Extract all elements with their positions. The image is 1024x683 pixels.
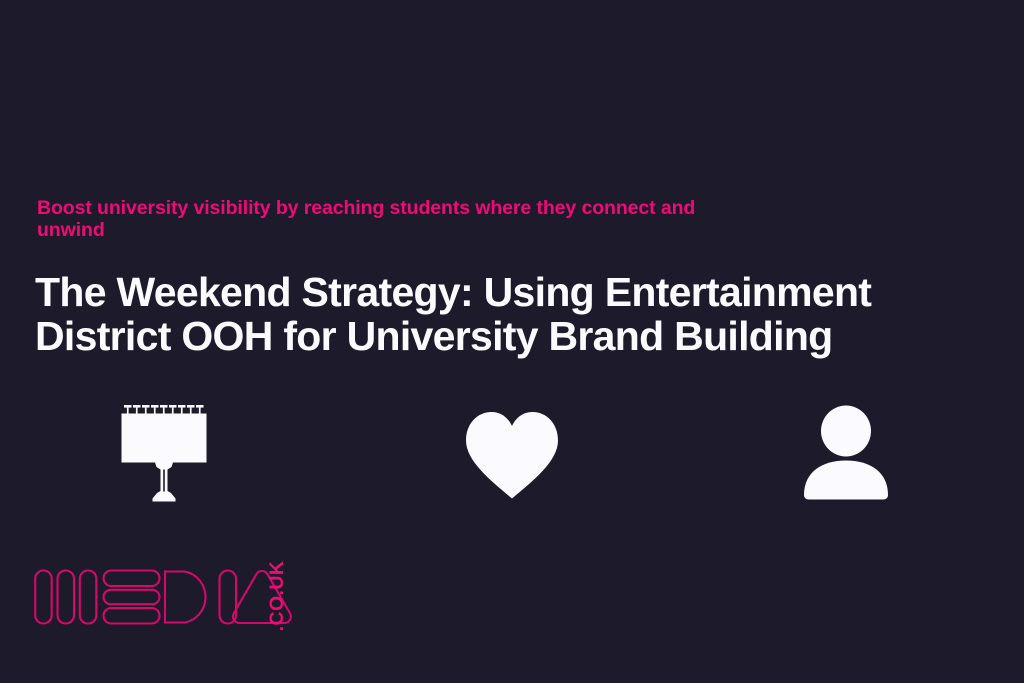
billboard-icon: Billboard <box>121 405 207 505</box>
person-icon: Person <box>802 405 890 505</box>
svg-text:.CO.UK: .CO.UK <box>266 561 288 632</box>
logo[interactable]: MEDIA.CO.UK .CO.UK <box>33 558 295 634</box>
hero-card: Boost university visibility by reaching … <box>0 0 1024 683</box>
page-title: The Weekend Strategy: Using Entertainmen… <box>35 270 935 358</box>
kicker-text: Boost university visibility by reaching … <box>37 198 727 241</box>
heart-icon: Heart <box>462 405 562 505</box>
icon-row: Billboard <box>0 405 1024 510</box>
